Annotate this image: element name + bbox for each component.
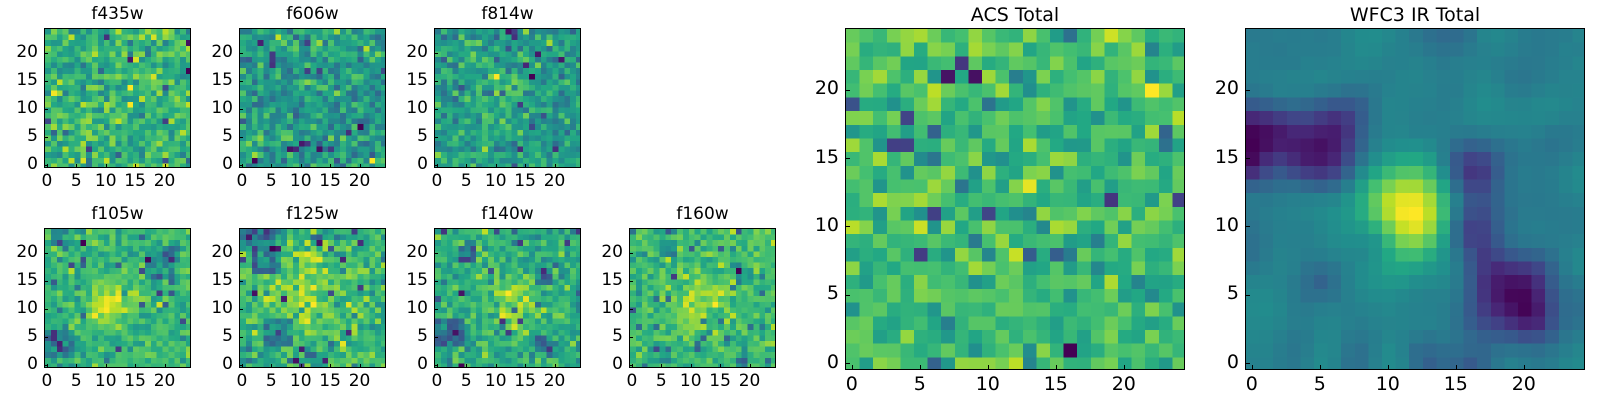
xtick-label-f125w-4: 20 — [338, 373, 382, 390]
ytick-f105w-1 — [44, 337, 48, 338]
figure-canvas: f435w0510152005101520f606w05101520051015… — [0, 0, 1600, 400]
panel-acs-total: ACS Total0510152005101520 — [801, 6, 1185, 392]
ytick-label-f814w-1: 5 — [390, 128, 428, 145]
xtick-f814w-2 — [496, 164, 497, 168]
ytick-label-f814w-0: 0 — [390, 156, 428, 173]
ytick-f606w-2 — [239, 109, 243, 110]
ytick-wfc3-ir-total-2 — [1245, 226, 1250, 227]
xtick-f105w-2 — [106, 364, 107, 368]
xtick-label-acs-total-4: 20 — [1102, 375, 1146, 394]
ytick-f125w-1 — [239, 337, 243, 338]
ytick-label-f105w-1: 5 — [0, 328, 38, 345]
panel-title-f814w: f814w — [434, 6, 581, 23]
ytick-f125w-2 — [239, 309, 243, 310]
xtick-f606w-2 — [301, 164, 302, 168]
ytick-acs-total-3 — [845, 158, 850, 159]
ytick-f435w-1 — [44, 137, 48, 138]
xtick-label-f140w-4: 20 — [533, 373, 577, 390]
xtick-f105w-3 — [135, 364, 136, 368]
ytick-label-f140w-3: 15 — [390, 272, 428, 289]
ytick-label-f435w-3: 15 — [0, 72, 38, 89]
ytick-label-wfc3-ir-total-0: 0 — [1201, 353, 1239, 372]
panel-title-f125w: f125w — [239, 206, 386, 223]
ytick-f435w-2 — [44, 109, 48, 110]
ytick-label-f606w-2: 10 — [195, 100, 233, 117]
ytick-label-f606w-0: 0 — [195, 156, 233, 173]
heatmap-image-wfc3-ir-total — [1246, 29, 1585, 370]
ytick-f435w-3 — [44, 81, 48, 82]
ytick-f435w-0 — [44, 165, 48, 166]
xtick-f160w-1 — [661, 364, 662, 368]
xtick-label-f606w-4: 20 — [338, 173, 382, 190]
ytick-label-acs-total-3: 15 — [801, 148, 839, 167]
ytick-label-f606w-4: 20 — [195, 44, 233, 61]
ytick-f606w-3 — [239, 81, 243, 82]
ytick-f125w-0 — [239, 365, 243, 366]
ytick-label-f125w-2: 10 — [195, 300, 233, 317]
ytick-label-f814w-2: 10 — [390, 100, 428, 117]
ytick-label-f105w-4: 20 — [0, 244, 38, 261]
xtick-f105w-1 — [76, 364, 77, 368]
xtick-label-f435w-4: 20 — [143, 173, 187, 190]
xtick-label-wfc3-ir-total-2: 10 — [1366, 375, 1410, 394]
xtick-acs-total-1 — [920, 365, 921, 370]
ytick-f105w-2 — [44, 309, 48, 310]
xtick-label-wfc3-ir-total-0: 0 — [1230, 375, 1274, 394]
xtick-label-acs-total-2: 10 — [966, 375, 1010, 394]
ytick-label-f435w-2: 10 — [0, 100, 38, 117]
ytick-f140w-3 — [434, 281, 438, 282]
ytick-f160w-4 — [629, 253, 633, 254]
ytick-label-wfc3-ir-total-2: 10 — [1201, 216, 1239, 235]
ytick-label-f125w-4: 20 — [195, 244, 233, 261]
ytick-wfc3-ir-total-1 — [1245, 295, 1250, 296]
xtick-f125w-3 — [330, 364, 331, 368]
ytick-label-f160w-1: 5 — [585, 328, 623, 345]
xtick-label-f160w-4: 20 — [728, 373, 772, 390]
ytick-f814w-4 — [434, 53, 438, 54]
ytick-label-f125w-3: 15 — [195, 272, 233, 289]
xtick-f435w-4 — [165, 164, 166, 168]
ytick-f160w-0 — [629, 365, 633, 366]
heatmap-axes-f140w — [434, 228, 581, 368]
ytick-f606w-4 — [239, 53, 243, 54]
ytick-label-acs-total-2: 10 — [801, 216, 839, 235]
ytick-f140w-4 — [434, 253, 438, 254]
xtick-f140w-4 — [555, 364, 556, 368]
ytick-f105w-3 — [44, 281, 48, 282]
heatmap-image-acs-total — [846, 29, 1185, 370]
xtick-wfc3-ir-total-3 — [1456, 365, 1457, 370]
panel-f160w: f160w0510152005101520 — [585, 206, 776, 390]
xtick-wfc3-ir-total-4 — [1524, 365, 1525, 370]
heatmap-image-f105w — [45, 229, 191, 368]
xtick-f125w-1 — [271, 364, 272, 368]
ytick-label-f160w-2: 10 — [585, 300, 623, 317]
panel-title-acs-total: ACS Total — [845, 6, 1185, 25]
ytick-label-f435w-4: 20 — [0, 44, 38, 61]
panel-f125w: f125w0510152005101520 — [195, 206, 386, 390]
ytick-f105w-0 — [44, 365, 48, 366]
ytick-f814w-3 — [434, 81, 438, 82]
ytick-label-acs-total-0: 0 — [801, 353, 839, 372]
heatmap-axes-f160w — [629, 228, 776, 368]
ytick-f606w-0 — [239, 165, 243, 166]
panel-f435w: f435w0510152005101520 — [0, 6, 191, 190]
ytick-label-f105w-2: 10 — [0, 300, 38, 317]
ytick-acs-total-1 — [845, 295, 850, 296]
xtick-wfc3-ir-total-0 — [1252, 365, 1253, 370]
ytick-label-f606w-1: 5 — [195, 128, 233, 145]
heatmap-axes-f105w — [44, 228, 191, 368]
ytick-label-f435w-1: 5 — [0, 128, 38, 145]
xtick-f105w-4 — [165, 364, 166, 368]
ytick-label-f160w-3: 15 — [585, 272, 623, 289]
ytick-label-acs-total-4: 20 — [801, 79, 839, 98]
ytick-f140w-1 — [434, 337, 438, 338]
ytick-label-f160w-0: 0 — [585, 356, 623, 373]
panel-title-f160w: f160w — [629, 206, 776, 223]
xtick-f814w-3 — [525, 164, 526, 168]
heatmap-image-f606w — [240, 29, 386, 168]
panel-f140w: f140w0510152005101520 — [390, 206, 581, 390]
panel-f814w: f814w0510152005101520 — [390, 6, 581, 190]
ytick-wfc3-ir-total-0 — [1245, 363, 1250, 364]
xtick-f606w-3 — [330, 164, 331, 168]
xtick-f160w-4 — [750, 364, 751, 368]
xtick-label-wfc3-ir-total-4: 20 — [1502, 375, 1546, 394]
ytick-label-f160w-4: 20 — [585, 244, 623, 261]
xtick-label-wfc3-ir-total-3: 15 — [1434, 375, 1478, 394]
ytick-label-f606w-3: 15 — [195, 72, 233, 89]
xtick-label-f814w-4: 20 — [533, 173, 577, 190]
xtick-f160w-3 — [720, 364, 721, 368]
ytick-label-f814w-4: 20 — [390, 44, 428, 61]
ytick-label-wfc3-ir-total-4: 20 — [1201, 79, 1239, 98]
ytick-f140w-0 — [434, 365, 438, 366]
panel-f105w: f105w0510152005101520 — [0, 206, 191, 390]
ytick-f140w-2 — [434, 309, 438, 310]
xtick-label-acs-total-3: 15 — [1034, 375, 1078, 394]
xtick-f125w-2 — [301, 364, 302, 368]
ytick-wfc3-ir-total-4 — [1245, 90, 1250, 91]
xtick-acs-total-0 — [852, 365, 853, 370]
xtick-f125w-4 — [360, 364, 361, 368]
xtick-label-acs-total-0: 0 — [830, 375, 874, 394]
heatmap-axes-acs-total — [845, 28, 1185, 370]
heatmap-axes-wfc3-ir-total — [1245, 28, 1585, 370]
xtick-f606w-4 — [360, 164, 361, 168]
ytick-label-f435w-0: 0 — [0, 156, 38, 173]
xtick-f814w-1 — [466, 164, 467, 168]
ytick-f814w-0 — [434, 165, 438, 166]
heatmap-image-f140w — [435, 229, 581, 368]
ytick-label-f125w-0: 0 — [195, 356, 233, 373]
ytick-f160w-3 — [629, 281, 633, 282]
ytick-acs-total-2 — [845, 226, 850, 227]
ytick-label-f105w-0: 0 — [0, 356, 38, 373]
heatmap-axes-f814w — [434, 28, 581, 168]
heatmap-image-f435w — [45, 29, 191, 168]
xtick-f140w-1 — [466, 364, 467, 368]
ytick-f814w-2 — [434, 109, 438, 110]
xtick-f435w-2 — [106, 164, 107, 168]
ytick-f160w-1 — [629, 337, 633, 338]
panel-title-f435w: f435w — [44, 6, 191, 23]
xtick-f435w-3 — [135, 164, 136, 168]
panel-f606w: f606w0510152005101520 — [195, 6, 386, 190]
heatmap-axes-f606w — [239, 28, 386, 168]
panel-title-f606w: f606w — [239, 6, 386, 23]
ytick-label-f140w-2: 10 — [390, 300, 428, 317]
xtick-label-f105w-4: 20 — [143, 373, 187, 390]
panel-wfc3-ir-total: WFC3 IR Total0510152005101520 — [1201, 6, 1585, 392]
xtick-acs-total-4 — [1124, 365, 1125, 370]
xtick-f160w-2 — [691, 364, 692, 368]
ytick-label-f105w-3: 15 — [0, 272, 38, 289]
ytick-label-f125w-1: 5 — [195, 328, 233, 345]
ytick-acs-total-4 — [845, 90, 850, 91]
ytick-f435w-4 — [44, 53, 48, 54]
ytick-f105w-4 — [44, 253, 48, 254]
xtick-f814w-4 — [555, 164, 556, 168]
panel-title-f140w: f140w — [434, 206, 581, 223]
heatmap-image-f125w — [240, 229, 386, 368]
ytick-f160w-2 — [629, 309, 633, 310]
xtick-f606w-1 — [271, 164, 272, 168]
xtick-f140w-3 — [525, 364, 526, 368]
ytick-label-f140w-0: 0 — [390, 356, 428, 373]
heatmap-axes-f435w — [44, 28, 191, 168]
xtick-acs-total-3 — [1056, 365, 1057, 370]
xtick-wfc3-ir-total-1 — [1320, 365, 1321, 370]
xtick-f435w-1 — [76, 164, 77, 168]
ytick-f125w-4 — [239, 253, 243, 254]
xtick-label-wfc3-ir-total-1: 5 — [1298, 375, 1342, 394]
heatmap-image-f160w — [630, 229, 776, 368]
ytick-label-wfc3-ir-total-3: 15 — [1201, 148, 1239, 167]
ytick-f606w-1 — [239, 137, 243, 138]
ytick-acs-total-0 — [845, 363, 850, 364]
xtick-f140w-2 — [496, 364, 497, 368]
xtick-wfc3-ir-total-2 — [1388, 365, 1389, 370]
heatmap-axes-f125w — [239, 228, 386, 368]
ytick-label-wfc3-ir-total-1: 5 — [1201, 284, 1239, 303]
panel-title-f105w: f105w — [44, 206, 191, 223]
panel-title-wfc3-ir-total: WFC3 IR Total — [1245, 6, 1585, 25]
ytick-f125w-3 — [239, 281, 243, 282]
ytick-f814w-1 — [434, 137, 438, 138]
ytick-label-acs-total-1: 5 — [801, 284, 839, 303]
ytick-label-f140w-1: 5 — [390, 328, 428, 345]
heatmap-image-f814w — [435, 29, 581, 168]
ytick-label-f814w-3: 15 — [390, 72, 428, 89]
ytick-label-f140w-4: 20 — [390, 244, 428, 261]
xtick-label-acs-total-1: 5 — [898, 375, 942, 394]
ytick-wfc3-ir-total-3 — [1245, 158, 1250, 159]
xtick-acs-total-2 — [988, 365, 989, 370]
